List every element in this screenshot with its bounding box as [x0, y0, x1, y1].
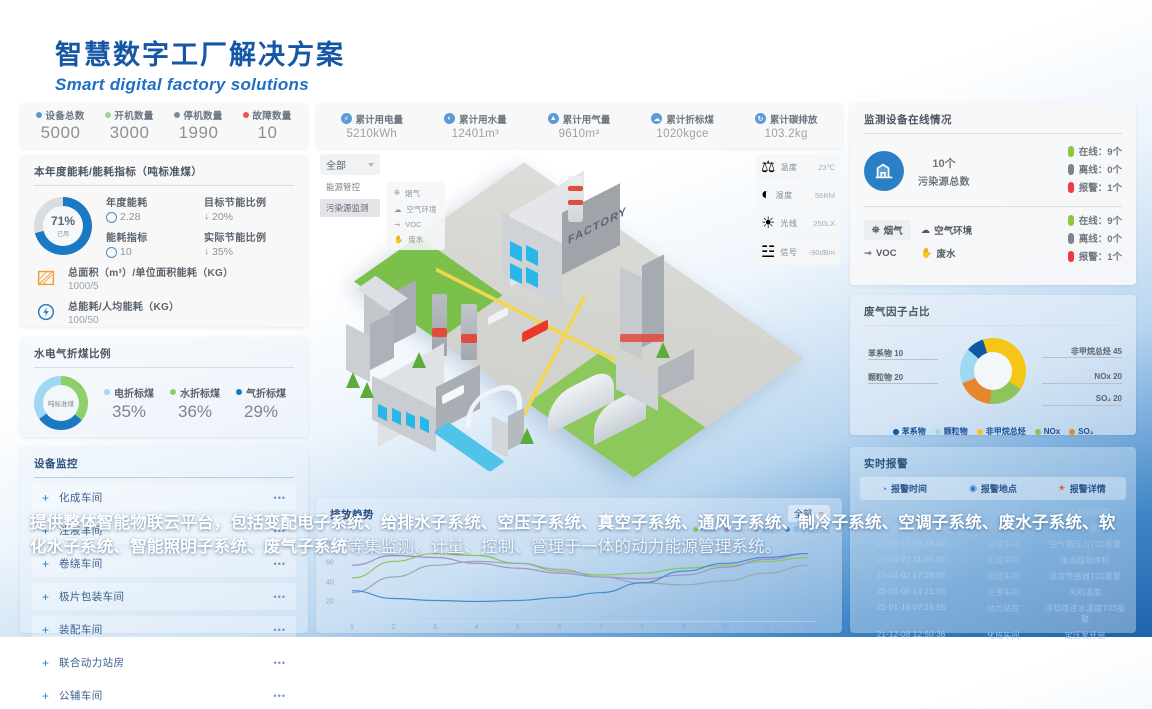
device-more-icon[interactable]: •••: [274, 691, 286, 701]
water-icon: ✋: [921, 248, 933, 259]
coal-ratio-label: 电折标煤: [114, 385, 154, 400]
waste-gas-factor-title: 废气因子占比: [850, 295, 1136, 325]
device-stat-value: 10: [243, 123, 291, 143]
donut-legend-item: 颗粒物: [935, 426, 968, 437]
tree: [520, 428, 534, 444]
energy-metric-label: 年度能耗: [106, 194, 196, 209]
drop-icon: ◐: [444, 113, 455, 124]
status-line: 离线：0个: [1068, 162, 1122, 176]
device-list-item-label: 装配车间: [59, 622, 264, 637]
cloud-icon: ☁: [651, 113, 662, 124]
cumulative-metric-value: 9610m³: [548, 128, 611, 140]
legend-dot: [1069, 429, 1075, 435]
alarm-table-header: ◔报警时间◉报警地点☀报警详情: [860, 477, 1126, 500]
energy-metric-label: 目标节能比例: [204, 194, 294, 209]
pollution-total-count: 10个: [918, 155, 970, 171]
cumulative-metric-label: 累计碳排放: [770, 112, 818, 126]
alarm-detail: 温度传感器T01报警: [1044, 571, 1126, 582]
legend-dot: [893, 429, 899, 435]
status-dot: [1068, 146, 1074, 157]
status-line: 报警：1个: [1068, 180, 1122, 194]
device-more-icon[interactable]: •••: [274, 592, 286, 602]
energy-summary-row: 总面积（m³）/单位面积能耗（KG）1000/5: [20, 258, 308, 292]
alarm-row[interactable]: 22-04-02 17:29:02卷绕车间温度传感器T01报警: [860, 568, 1126, 584]
device-stat-value: 1990: [174, 123, 222, 143]
energy-summary-value: 100/50: [68, 315, 179, 326]
x-axis-tick: 9: [682, 624, 686, 631]
alarm-place: 化成车间: [962, 630, 1044, 641]
status-line: 在线：9个: [1068, 144, 1122, 158]
overlay-caption: 提供整体智能物联云平台，包括变配电子系统、给排水子系统、空压子系统、真空子系统、…: [30, 512, 1120, 560]
tree: [360, 382, 374, 398]
y-axis-tick: 40: [326, 579, 334, 586]
tree: [656, 342, 670, 358]
pollution-type-label: 空气环境: [934, 223, 972, 237]
cumulative-metric-value: 5210kWh: [341, 128, 404, 140]
status-label: 报警：1个: [1079, 249, 1122, 263]
pollution-type-label: 烟气: [884, 223, 903, 237]
divider: [34, 477, 294, 478]
sensor-value: 56RM: [815, 191, 835, 200]
x-axis-tick: 1: [350, 624, 354, 631]
donut-legend-item: 非甲烷总烃: [977, 426, 1026, 437]
coal-ratio-label: 气折标煤: [246, 385, 286, 400]
alarm-detail: 风机温度: [1044, 587, 1126, 598]
pollution-type-chip[interactable]: ✋废水: [921, 246, 973, 260]
alarm-column-header: ◔报警时间: [860, 482, 949, 495]
alarm-column-label: 报警时间: [891, 482, 927, 495]
coal-ratio-value: 29%: [236, 402, 286, 422]
map-filter-control[interactable]: 全部 能源管控污染源监测: [320, 154, 380, 217]
x-axis: [346, 621, 816, 622]
dashboard-root: 智慧数字工厂解决方案 Smart digital factory solutio…: [0, 0, 1152, 637]
alarm-row[interactable]: 22-01-19 07:16:55动力站房冷却塔进水温度T03报警: [860, 600, 1126, 627]
pollution-type-chip[interactable]: ⛯烟气: [864, 220, 911, 240]
device-more-icon[interactable]: •••: [274, 559, 286, 569]
divider: [34, 367, 294, 368]
overlay-tail-text: 等集监测、计量、控制、管理于一体的动力能源管理系统。: [347, 538, 781, 556]
waste-gas-factor-card: 废气因子占比 苯系物 10颗粒物 20非甲烷总烃 45NOx 20SO₂ 20 …: [850, 295, 1136, 435]
coal-unit-icon: [106, 247, 117, 258]
energy-metric: 实际节能比例↓35%: [204, 229, 294, 258]
air-icon: ☁: [921, 225, 931, 236]
device-list-item-label: 公辅车间: [59, 688, 264, 703]
monitor-online-card: 监测设备在线情况 10个 污染源总数 在线：9个离线：0个报警：1个 ⛯烟气☁空…: [850, 103, 1136, 285]
coal-ratio-item: 气折标煤29%: [236, 385, 286, 422]
donut-legend-label: 苯系物: [902, 426, 926, 437]
cumulative-metric-value: 12401m³: [444, 128, 507, 140]
energy-metric-label: 能耗指标: [106, 229, 196, 244]
status-dot: [36, 112, 42, 118]
alarm-time: 22-01-19 07:16:55: [860, 603, 962, 625]
status-line: 离线：0个: [1068, 231, 1122, 245]
divider: [864, 325, 1122, 326]
factory-map: FACTORY: [316, 152, 842, 490]
status-label: 报警：1个: [1079, 180, 1122, 194]
clock-icon: ◔: [882, 484, 887, 494]
device-stat: 设备总数5000: [36, 108, 84, 143]
pollution-type-chip[interactable]: ⊸VOC: [864, 246, 911, 260]
donut-legend-label: 非甲烷总烃: [986, 426, 1026, 437]
annual-energy-card: 本年度能耗/能耗指标（吨标准煤） 71% 已用 年度能耗2.28目标节能比例↓2…: [20, 155, 308, 327]
y-axis-tick: 60: [326, 560, 334, 567]
device-stat: 开机数量3000: [105, 108, 153, 143]
expand-plus-icon[interactable]: +: [42, 492, 49, 504]
legend-dot: [977, 429, 983, 435]
page-title: 智慧数字工厂解决方案: [55, 40, 345, 71]
device-stat-value: 3000: [105, 123, 153, 143]
annotation-leader-line: [868, 359, 938, 360]
alarm-place: 注液车间: [962, 587, 1044, 598]
cumulative-metric-label: 累计用气量: [563, 112, 611, 126]
alarm-column-label: 报警地点: [981, 482, 1017, 495]
trend-series-line: [352, 554, 808, 602]
alarm-detail: 冷却塔进水温度T03报警: [1044, 603, 1126, 625]
status-line: 报警：1个: [1068, 249, 1122, 263]
donut-legend-item: SO₂: [1069, 426, 1093, 437]
energy-summary-label: 总面积（m³）/单位面积能耗（KG）: [68, 264, 233, 279]
divider: [864, 206, 1122, 207]
divider: [34, 185, 294, 186]
x-axis-tick: 7: [599, 624, 603, 631]
map-legend-label: VOC: [405, 220, 421, 229]
voc-icon: ⊸: [394, 220, 400, 229]
sensor-readings-panel: ⚖温度23℃◐湿度56RM☀光线250LX☳信号-90dBm: [756, 154, 840, 268]
device-list-item-label: 联合动力站房: [59, 655, 264, 670]
status-dot: [243, 112, 249, 118]
status-dot: [1068, 164, 1074, 175]
donut-legend-label: SO₂: [1078, 427, 1093, 436]
legend-dot: [1035, 429, 1041, 435]
map-legend-label: 烟气: [405, 188, 420, 199]
device-stat-label: 故障数量: [252, 108, 291, 122]
chimney-mid-band: [461, 334, 477, 343]
donut-annotation: SO₂ 20: [1096, 394, 1122, 403]
cumulative-metric-label: 累计用电量: [356, 112, 404, 126]
alarm-column-header: ◉报警地点: [949, 482, 1038, 495]
coal-unit-icon: [106, 212, 117, 223]
sensor-label: 信号: [780, 247, 803, 258]
bolt-icon: ⚡: [341, 113, 352, 124]
divider: [864, 133, 1122, 134]
donut-annotation: 苯系物 10: [868, 348, 903, 359]
sensor-value: 23℃: [818, 163, 835, 172]
voc-icon: ⊸: [864, 248, 872, 259]
annotation-leader-line: [868, 383, 938, 384]
area-icon: [34, 266, 58, 290]
map-filter-value: 全部: [326, 157, 346, 172]
device-stat-value: 5000: [36, 123, 84, 143]
energy-metric-value: 20%: [212, 211, 233, 223]
alarm-place: 卷绕车间: [962, 571, 1044, 582]
humidity-icon: ◐: [761, 186, 771, 204]
chevron-down-icon: [368, 163, 374, 167]
map-filter-option[interactable]: 污染源监测: [320, 199, 380, 217]
air-icon: ☁: [394, 205, 402, 214]
smoke-icon: ⛯: [872, 225, 880, 236]
pollution-source-icon: [864, 151, 904, 191]
alarm-detail: 定压泵开启: [1044, 630, 1126, 641]
chimney-mid: [461, 304, 477, 360]
energy-summary-row: 总能耗/人均能耗（KG）100/50: [20, 292, 308, 326]
map-filter-option[interactable]: 能源管控: [320, 178, 380, 196]
smoke-icon: ⛯: [394, 188, 400, 198]
status-line: 在线：9个: [1068, 213, 1122, 227]
donut-legend-item: 苯系物: [893, 426, 926, 437]
alarm-place: 动力站房: [962, 603, 1044, 625]
status-dot: [174, 112, 180, 118]
energy-metric-value: 2.28: [120, 211, 140, 223]
status-label: 离线：0个: [1079, 231, 1122, 245]
donut-annotation: 非甲烷总烃 45: [1071, 346, 1122, 357]
cumulative-metric-label: 累计折标煤: [666, 112, 714, 126]
cumulative-metric: ▲累计用气量9610m³: [548, 112, 611, 140]
energy-metric: 目标节能比例↓20%: [204, 194, 294, 223]
alarm-time: 21-12-08 12:50:36: [860, 630, 962, 641]
device-more-icon[interactable]: •••: [274, 493, 286, 503]
map-filter-select[interactable]: 全部: [320, 154, 380, 175]
alarm-column-label: 报警详情: [1070, 482, 1106, 495]
gauge-percent: 71%: [51, 214, 75, 228]
water-icon: ✋: [394, 235, 403, 244]
tree: [412, 352, 426, 368]
arrow-down-icon: ↓: [204, 212, 209, 222]
sensor-reading: ◐湿度56RM: [756, 183, 840, 207]
donut-legend-item: NOx: [1035, 426, 1060, 437]
pollution-type-label: VOC: [876, 248, 897, 259]
status-dot: [1068, 215, 1074, 226]
realtime-alarm-title: 实时报警: [850, 447, 1136, 477]
device-stat: 停机数量1990: [174, 108, 222, 143]
cumulative-metric: ⚡累计用电量5210kWh: [341, 112, 404, 140]
alarm-column-header: ☀报警详情: [1037, 482, 1126, 495]
alarm-time: 22-03-06 14:21:05: [860, 587, 962, 598]
expand-plus-icon[interactable]: +: [42, 657, 49, 669]
device-list-item[interactable]: +公辅车间•••: [32, 682, 296, 709]
x-axis-tick: 3: [433, 624, 437, 631]
cumulative-metric: ◐累计用水量12401m³: [444, 112, 507, 140]
cumulative-metric: ↻累计碳排放103.2kg: [755, 112, 818, 140]
cumulative-metric-value: 1020kgce: [651, 128, 714, 140]
device-more-icon[interactable]: •••: [274, 658, 286, 668]
annual-energy-title: 本年度能耗/能耗指标（吨标准煤）: [20, 155, 308, 185]
status-label: 离线：0个: [1079, 162, 1122, 176]
annotation-leader-line: [1042, 405, 1122, 406]
coal-ratio-item: 电折标煤35%: [104, 385, 154, 422]
thermometer-icon: ⚖: [761, 157, 775, 177]
map-legend-item[interactable]: ⊸VOC: [391, 217, 440, 231]
waste-gas-legend: 苯系物颗粒物非甲烷总烃NOxSO₂: [850, 424, 1136, 437]
x-axis-tick: 10: [721, 624, 729, 631]
coal-ratio-item: 水折标煤36%: [170, 385, 220, 422]
annotation-leader-line: [1042, 383, 1122, 384]
donut-annotation: 颗粒物 20: [868, 372, 903, 383]
co2-icon: ↻: [755, 113, 766, 124]
legend-dot: [236, 389, 242, 395]
alarm-row[interactable]: 21-12-08 12:50:36化成车间定压泵开启: [860, 627, 1126, 643]
legend-dot: [170, 389, 176, 395]
donut-legend-label: 颗粒物: [944, 426, 968, 437]
map-legend-label: 空气环境: [407, 204, 437, 215]
cumulative-metric: ☁累计折标煤1020kgce: [651, 112, 714, 140]
status-dot: [105, 112, 111, 118]
device-stat-label: 设备总数: [45, 108, 84, 122]
alarm-row[interactable]: 22-03-06 14:21:05注液车间风机温度: [860, 584, 1126, 600]
map-legend-item[interactable]: ☁空气环境: [391, 201, 440, 217]
map-legend-label: 废水: [408, 234, 423, 245]
coal-ratio-card: 水电气折煤比例 吨标准煤 电折标煤35%水折标煤36%气折标煤29%: [20, 337, 308, 437]
sensor-reading: ☀光线250LX: [756, 210, 840, 236]
device-list-item-label: 化成车间: [59, 490, 264, 505]
sensor-label: 温度: [780, 162, 813, 173]
status-label: 在线：9个: [1079, 144, 1122, 158]
x-axis-tick: 5: [516, 624, 520, 631]
map-legend-item[interactable]: ⛯烟气: [391, 185, 440, 201]
gauge-caption: 已用: [57, 229, 69, 238]
signal-icon: ☳: [761, 242, 775, 262]
coal-ratio-value: 36%: [170, 402, 220, 422]
cumulative-metric-label: 累计用水量: [459, 112, 507, 126]
light-icon: ☀: [761, 213, 775, 233]
trend-series-line: [352, 561, 808, 592]
x-axis-tick: 11: [763, 624, 770, 631]
coal-ratio-value: 35%: [104, 402, 154, 422]
expand-plus-icon[interactable]: +: [42, 690, 49, 702]
coal-center-label: 吨标准煤: [34, 376, 88, 430]
cumulative-metrics-strip: ⚡累计用电量5210kWh◐累计用水量12401m³▲累计用气量9610m³☁累…: [316, 103, 842, 148]
flame-icon: ▲: [548, 113, 559, 124]
donut-legend-label: NOx: [1044, 427, 1060, 436]
legend-dot: [935, 429, 941, 435]
arrow-down-icon: ↓: [204, 247, 209, 257]
tree: [346, 372, 360, 388]
page-header: 智慧数字工厂解决方案 Smart digital factory solutio…: [55, 40, 345, 95]
x-axis-tick: 8: [640, 624, 644, 631]
power-icon: [34, 300, 58, 324]
cumulative-metric-value: 103.2kg: [755, 128, 818, 140]
coal-donut-chart: 吨标准煤: [34, 376, 88, 430]
device-list-item[interactable]: +极片包装车间•••: [32, 583, 296, 610]
legend-dot: [104, 389, 110, 395]
device-list-item[interactable]: +联合动力站房•••: [32, 649, 296, 676]
factory-chimney: [568, 176, 583, 222]
x-axis-tick: 12: [804, 624, 812, 631]
expand-plus-icon[interactable]: +: [42, 624, 49, 636]
device-stat-label: 开机数量: [114, 108, 153, 122]
device-stat: 故障数量10: [243, 108, 291, 143]
device-monitor-title: 设备监控: [20, 447, 308, 477]
pollution-type-label: 废水: [936, 246, 955, 260]
device-list-item[interactable]: +装配车间•••: [32, 616, 296, 643]
y-axis-tick: 20: [326, 599, 334, 606]
waste-gas-donut-chart: [960, 338, 1026, 404]
sensor-reading: ☳信号-90dBm: [756, 239, 840, 265]
energy-summary-label: 总能耗/人均能耗（KG）: [68, 298, 179, 313]
device-stat-label: 停机数量: [183, 108, 222, 122]
sensor-value: -90dBm: [809, 248, 835, 257]
pollution-total-label: 污染源总数: [918, 173, 970, 188]
device-list-item[interactable]: +化成车间•••: [32, 484, 296, 511]
status-dot: [1068, 233, 1074, 244]
energy-gauge: 71% 已用: [34, 197, 92, 255]
sensor-reading: ⚖温度23℃: [756, 154, 840, 180]
device-more-icon[interactable]: •••: [274, 625, 286, 635]
sensor-label: 光线: [780, 218, 808, 229]
x-axis-tick: 4: [474, 624, 478, 631]
chimney-band-2: [568, 200, 583, 205]
energy-metric-label: 实际节能比例: [204, 229, 294, 244]
energy-metric: 能耗指标10: [106, 229, 196, 258]
sensor-value: 250LX: [813, 219, 835, 228]
chimney-band-1: [568, 186, 583, 191]
energy-metric-value: 10: [120, 246, 132, 258]
x-axis-tick: 2: [392, 624, 396, 631]
siren-icon: ☀: [1058, 483, 1066, 494]
pin-icon: ◉: [969, 483, 977, 494]
pollution-type-chip[interactable]: ☁空气环境: [921, 220, 973, 240]
energy-metric: 年度能耗2.28: [106, 194, 196, 223]
annotation-leader-line: [1042, 357, 1122, 358]
device-list-item-label: 极片包装车间: [59, 589, 264, 604]
map-legend-item[interactable]: ✋废水: [391, 231, 440, 247]
chimney-left-band: [432, 328, 447, 337]
donut-annotation: NOx 20: [1094, 372, 1122, 381]
status-label: 在线：9个: [1079, 213, 1122, 227]
status-dot: [1068, 182, 1074, 193]
expand-plus-icon[interactable]: +: [42, 591, 49, 603]
alarm-time: 22-04-02 17:29:02: [860, 571, 962, 582]
energy-summary-value: 1000/5: [68, 281, 233, 292]
device-stats-strip: 设备总数5000开机数量3000停机数量1990故障数量10: [20, 103, 308, 148]
sensor-label: 湿度: [776, 190, 810, 201]
status-dot: [1068, 251, 1074, 262]
coal-ratio-title: 水电气折煤比例: [20, 337, 308, 367]
x-axis-tick: 6: [557, 624, 561, 631]
map-legend: ⛯烟气☁空气环境⊸VOC✋废水: [386, 182, 445, 250]
coal-ratio-label: 水折标煤: [180, 385, 220, 400]
monitor-online-title: 监测设备在线情况: [850, 103, 1136, 133]
energy-metric-value: 35%: [212, 246, 233, 258]
page-subtitle: Smart digital factory solutions: [55, 75, 345, 95]
